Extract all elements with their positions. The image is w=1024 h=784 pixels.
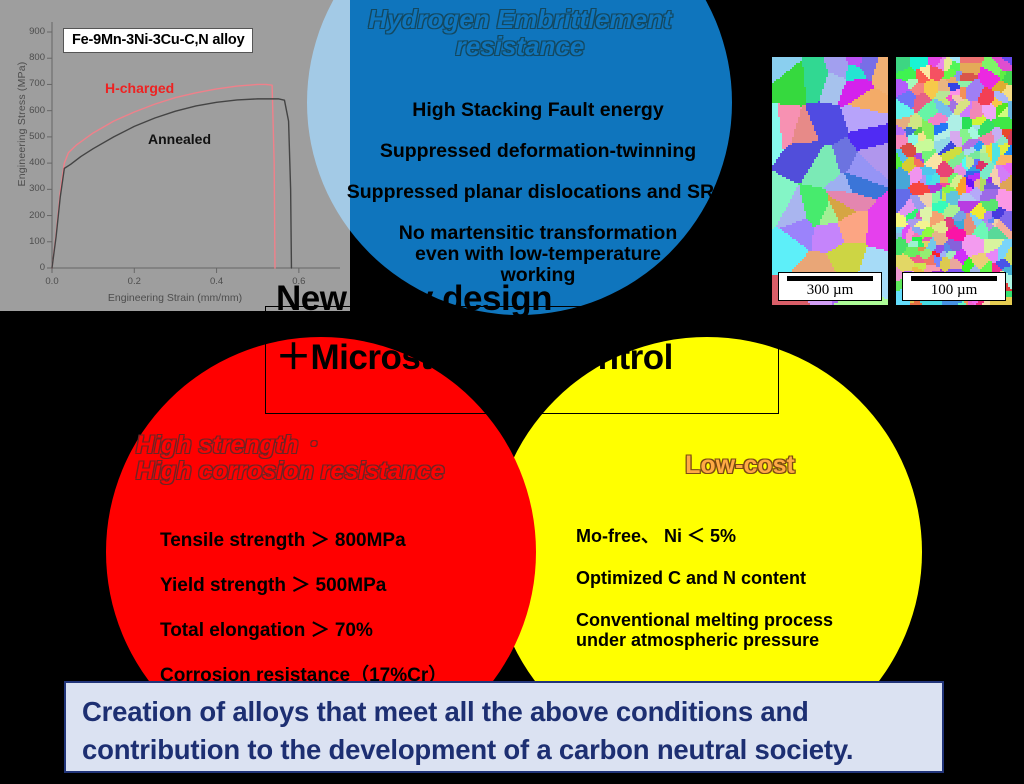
slide-canvas: Engineering Stress (MPa) Engineering Str… (0, 0, 1024, 784)
micrograph-coarse-grain: 300 µm (772, 57, 888, 305)
scalebar-coarse-label: 300 µm (807, 282, 854, 298)
venn-bullets-hydrogen-embrittlement: High Stacking Fault energy Suppressed de… (298, 100, 778, 286)
list-item: Yield strength ＞ 500MPa (160, 570, 447, 597)
venn-bullets-low-cost: Mo-free、 Ni ＜ 5% Optimized C and N conte… (576, 526, 833, 673)
center-callout-line-2: ＋Microstructure control (276, 329, 673, 380)
scalebar-fine-label: 100 µm (931, 282, 978, 298)
list-item: Tensile strength ＞ 800MPa (160, 525, 447, 552)
bottom-summary-banner: Creation of alloys that meet all the abo… (64, 681, 944, 773)
chart-y-tick: 200 (11, 211, 45, 220)
venn-title-hydrogen-embrittlement: Hydrogen Embrittlement resistance (310, 6, 730, 61)
list-item: Conventional melting process under atmos… (576, 610, 833, 650)
chart-y-tick: 800 (11, 53, 45, 62)
chart-x-tick: 0.4 (197, 276, 237, 287)
ebsd-orientation-map-fine-icon (896, 57, 1012, 305)
chart-y-tick: 500 (11, 132, 45, 141)
list-item: Mo-free、 Ni ＜ 5% (576, 526, 833, 546)
list-item: High Stacking Fault energy (298, 100, 778, 121)
center-callout-line-1: New alloy design (276, 279, 552, 319)
list-item: Suppressed planar dislocations and SRO (298, 182, 778, 203)
list-item: No martensitic transformation even with … (298, 223, 778, 286)
venn-title-high-strength: High strength ･ High corrosion resistanc… (136, 432, 536, 485)
ebsd-orientation-map-coarse-icon (772, 57, 888, 305)
chart-y-tick: 900 (11, 27, 45, 36)
scalebar-line-icon (911, 276, 997, 281)
chart-x-tick: 0.2 (114, 276, 154, 287)
chart-y-tick: 100 (11, 237, 45, 246)
chart-y-tick: 600 (11, 106, 45, 115)
venn-bullets-high-strength: Tensile strength ＞ 800MPa Yield strength… (160, 525, 447, 705)
banner-line-1: Creation of alloys that meet all the abo… (82, 693, 928, 731)
list-item: Total elongation ＞ 70% (160, 615, 447, 642)
chart-x-tick: 0.0 (32, 276, 72, 287)
venn-title-low-cost: Low-cost (600, 452, 880, 478)
list-item: Optimized C and N content (576, 568, 833, 588)
center-callout-box: New alloy design ＋Microstructure control (265, 306, 779, 414)
micrograph-fine-grain: 100 µm (896, 57, 1012, 305)
chart-y-tick: 0 (11, 263, 45, 272)
chart-y-tick: 700 (11, 79, 45, 88)
scalebar-fine: 100 µm (902, 272, 1006, 301)
scalebar-coarse: 300 µm (778, 272, 882, 301)
chart-y-tick: 300 (11, 184, 45, 193)
chart-y-tick: 400 (11, 158, 45, 167)
list-item: Suppressed deformation-twinning (298, 141, 778, 162)
banner-line-2: contribution to the development of a car… (82, 731, 928, 769)
scalebar-line-icon (787, 276, 873, 281)
